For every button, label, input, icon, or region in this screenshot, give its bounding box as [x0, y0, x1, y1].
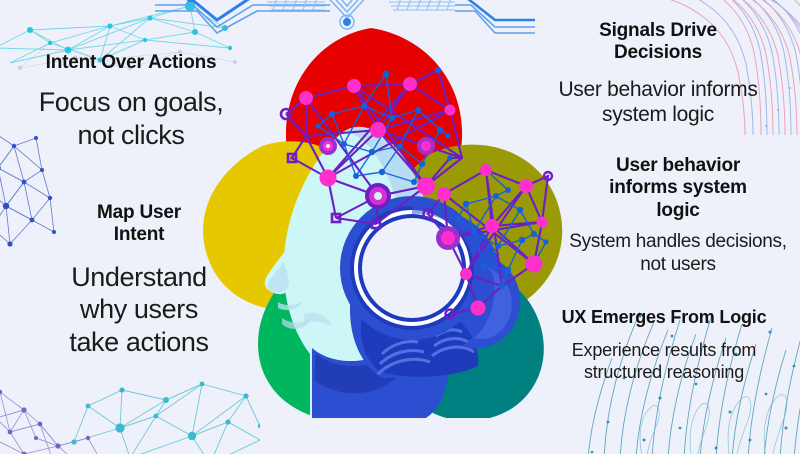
text-block-ux-emerges-from-logic: UX Emerges From Logic Experience results…: [528, 307, 800, 383]
body-line: Focus on goals,: [0, 86, 262, 118]
body-line: not clicks: [0, 119, 262, 151]
text-block-signals-drive-decisions: Signals Drive Decisions User behavior in…: [520, 20, 796, 127]
body-signals-drive-decisions: User behavior informs system logic: [520, 77, 796, 127]
body-line: System handles decisions,: [556, 231, 800, 254]
body-line: system logic: [520, 102, 796, 127]
text-block-intent-over-actions: Intent Over Actions Focus on goals, not …: [0, 52, 262, 151]
body-line: why users: [18, 293, 260, 325]
heading-line: informs system: [556, 177, 800, 199]
heading-line: User behavior: [556, 155, 800, 177]
heading-intent-over-actions: Intent Over Actions: [0, 52, 262, 74]
heading-ux-emerges-from-logic: UX Emerges From Logic: [528, 307, 800, 328]
body-ux-emerges-from-logic: Experience results from structured reaso…: [528, 340, 800, 383]
body-line: User behavior informs: [520, 77, 796, 102]
body-line: not users: [556, 254, 800, 277]
heading-line: Signals Drive: [520, 20, 796, 42]
heading-signals-drive-decisions: Signals Drive Decisions: [520, 20, 796, 65]
heading-user-behavior-informs-system-logic: User behavior informs system logic: [556, 155, 800, 222]
text-block-map-user-intent: Map User Intent Understand why users tak…: [18, 202, 260, 358]
body-line: Understand: [18, 261, 260, 293]
heading-line: logic: [556, 200, 800, 222]
body-line: take actions: [18, 326, 260, 358]
body-intent-over-actions: Focus on goals, not clicks: [0, 86, 262, 151]
body-line: Experience results from: [528, 340, 800, 362]
infographic-canvas: Intent Over Actions Focus on goals, not …: [0, 0, 800, 454]
heading-map-user-intent: Map User Intent: [18, 202, 260, 247]
heading-line: Decisions: [520, 42, 796, 64]
body-map-user-intent: Understand why users take actions: [18, 261, 260, 358]
text-block-user-behavior-informs-system-logic: User behavior informs system logic Syste…: [556, 155, 800, 277]
heading-line: Map User: [18, 202, 260, 224]
network-hub-node: [365, 183, 391, 209]
heading-line: Intent: [18, 224, 260, 246]
body-line: structured reasoning: [528, 362, 800, 384]
body-user-behavior-informs-system-logic: System handles decisions, not users: [556, 231, 800, 277]
